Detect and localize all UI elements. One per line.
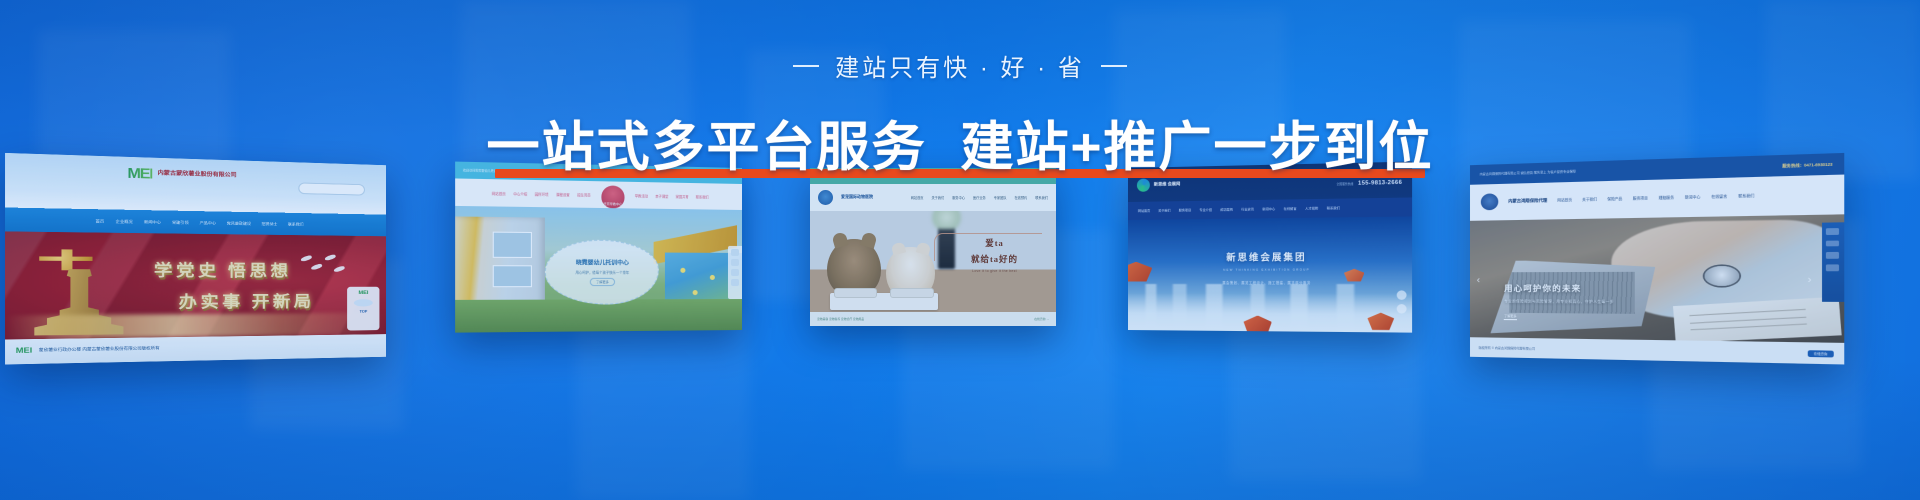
top-icon[interactable] — [731, 279, 739, 286]
message-icon[interactable] — [731, 269, 739, 276]
s3-hero: 爱ta 就给ta好的 Love it to give it the best — [810, 211, 1056, 312]
s2-navbar: 网站首页 中心介绍 园所环境 课程设置 招生简章 托育早教中心 早教活动 亲子课… — [455, 179, 742, 210]
s3-nav-item[interactable]: 关于我们 — [932, 195, 945, 200]
s5-nav-item[interactable]: 新闻中心 — [1685, 195, 1701, 200]
s4-hero-subtitle: NEW THINKING EXHIBITION GROUP — [1128, 267, 1412, 272]
s4-brand-name: 新思维 会展网 — [1154, 181, 1180, 187]
s3-slogan-en: Love it to give it the best — [940, 269, 1048, 273]
s4-nav-item[interactable]: 成功案例 — [1220, 207, 1233, 212]
cat-long-hair-icon — [827, 239, 881, 296]
phone-icon[interactable] — [1826, 228, 1839, 235]
showcase-item-insurance-site[interactable]: 内蒙古鸿翔保险代理有限公司 诚信经营 服务至上 为客户提供专业保障 服务热线：0… — [1470, 153, 1844, 365]
s2-logo-icon: 托育早教中心 — [601, 186, 624, 209]
s5-nav-item[interactable]: 服务项目 — [1633, 196, 1648, 201]
s4-nav-item[interactable]: 人才招聘 — [1305, 206, 1318, 211]
s3-slogan-frame — [934, 233, 1042, 260]
s5-nav-item[interactable]: 在线留言 — [1711, 194, 1727, 199]
s5-hero-subtitle: 专业的保险规划与风险管理，用专业和真心，守护人生每一步 — [1504, 298, 1614, 304]
s3-nav-item[interactable]: 网站首页 — [911, 195, 924, 200]
s5-side-rail[interactable] — [1822, 222, 1845, 302]
s2-nav-item[interactable]: 园所环境 — [535, 191, 549, 196]
s4-nav-item[interactable]: 网站首页 — [1138, 208, 1150, 213]
s4-nav-item[interactable]: 关于我们 — [1158, 208, 1170, 213]
s3-nav-item[interactable]: 医疗业务 — [973, 195, 986, 200]
banner-subtitle-row: 建站只有快 · 好 · 省 — [0, 48, 1920, 83]
s3-footer-left: 宠物美容 宠物寄养 宠物诊疗 宠物用品 — [817, 317, 864, 321]
banner-heading-group: 建站只有快 · 好 · 省 一站式多平台服务建站+推广一步到位 — [0, 48, 1920, 181]
s1-footer-text: 蒙欣薯业行政办公楼 内蒙古蒙欣薯业股份有限公司版权所有 — [39, 346, 160, 354]
showcase-carousel: MEI 内蒙古蒙欣薯业股份有限公司 首页 企业概况 新闻中心 党建引领 产品中心… — [0, 168, 1920, 398]
s2-nav-item[interactable]: 家园共育 — [676, 193, 689, 198]
banner-title-part1: 一站式多平台服务 — [487, 118, 927, 177]
s1-nav-item[interactable]: 党建引领 — [172, 219, 189, 225]
s2-nav-item[interactable]: 亲子课堂 — [655, 193, 668, 198]
message-icon[interactable] — [1826, 252, 1839, 259]
s1-footer-logo: MEI — [16, 347, 33, 355]
s3-navbar: 爱宠国际动物医院 网站首页 关于我们 服务中心 医疗业务 专家团队 在线预约 联… — [810, 184, 1056, 211]
s5-hero: 用心呵护你的未来 专业的保险规划与风险管理，用专业和真心，守护人生每一步 了解更… — [1470, 214, 1844, 343]
s1-nav-item[interactable]: 新闻中心 — [144, 219, 161, 225]
s4-side-rail[interactable] — [1394, 291, 1409, 324]
s2-cloud-sub: 用心呵护，给每个孩子快乐一个童年 — [575, 270, 629, 275]
s4-hero: 新思维会展集团 NEW THINKING EXHIBITION GROUP 展会… — [1128, 216, 1412, 332]
dash-right-icon — [1101, 65, 1127, 67]
s4-nav-item[interactable]: 服务项目 — [1179, 207, 1192, 212]
s4-tel-label: 全国服务热线 — [1337, 183, 1354, 186]
top-icon[interactable] — [1397, 304, 1407, 314]
s4-hero-tags: 展会策划、展览工程设计、施工搭建、展览部分服务 — [1128, 279, 1412, 284]
s3-footer: 宠物美容 宠物寄养 宠物诊疗 宠物用品 在线咨询 → — [810, 312, 1056, 326]
s3-nav-item[interactable]: 联系我们 — [1035, 195, 1048, 200]
s3-nav-item[interactable]: 专家团队 — [994, 195, 1007, 200]
s4-nav-item[interactable]: 在线留言 — [1284, 206, 1297, 211]
pet-bowls-icon — [830, 293, 938, 310]
s5-nav-item[interactable]: 理赔服务 — [1659, 196, 1674, 201]
s5-hero-text: 用心呵护你的未来 专业的保险规划与风险管理，用专业和真心，守护人生每一步 了解更… — [1504, 282, 1614, 323]
s5-brand-name: 内蒙古鸿翔保险代理 — [1508, 198, 1547, 204]
s2-nav-item[interactable]: 早教活动 — [635, 193, 648, 198]
banner-title-wrap: 一站式多平台服务建站+推广一步到位 — [487, 105, 1434, 181]
s4-nav-item[interactable]: 行业资讯 — [1241, 207, 1254, 212]
s2-nav-item[interactable]: 网站首页 — [492, 190, 506, 195]
s4-hero-title: 新思维会展集团 — [1128, 249, 1412, 264]
s3-slogan: 爱ta 就给ta好的 Love it to give it the best — [940, 237, 1048, 273]
s2-side-rail[interactable] — [728, 246, 742, 299]
s5-hero-button[interactable]: 了解更多 — [1504, 313, 1516, 319]
paper-documents-icon — [1673, 297, 1842, 343]
s1-nav-item[interactable]: 首页 — [96, 218, 105, 224]
s1-nav-item[interactable]: 产品中心 — [200, 220, 216, 226]
s3-footer-right[interactable]: 在线咨询 → — [1034, 317, 1049, 321]
s1-footer: MEI 蒙欣薯业行政办公楼 内蒙古蒙欣薯业股份有限公司版权所有 — [5, 334, 386, 365]
s3-nav-item[interactable]: 服务中心 — [952, 195, 965, 200]
s1-hero-text: 学党史 悟思想 办实事 开新局 — [112, 258, 330, 313]
s5-nav-item[interactable]: 网站首页 — [1557, 198, 1571, 203]
prev-arrow-icon[interactable]: ‹ — [1477, 274, 1480, 284]
qrcode-icon[interactable] — [1826, 240, 1839, 247]
s2-nav-item[interactable]: 联系我们 — [696, 194, 709, 199]
s5-footer-button[interactable]: 在线咨询 — [1807, 350, 1833, 357]
s2-nav-item[interactable]: 中心介绍 — [513, 191, 527, 196]
s5-nav-item[interactable]: 保险产品 — [1607, 197, 1622, 202]
s2-cloud-callout: 晓霓婴幼儿托训中心 用心呵护，给每个孩子快乐一个童年 了解更多 — [544, 240, 659, 305]
shield-logo-icon — [1481, 194, 1498, 211]
wechat-icon[interactable] — [354, 299, 373, 306]
s5-nav-item[interactable]: 关于我们 — [1582, 197, 1597, 202]
s4-nav-item[interactable]: 联系我们 — [1327, 205, 1340, 210]
top-icon[interactable] — [1826, 265, 1839, 272]
s1-rail-logo: MEI — [359, 290, 369, 296]
contact-icon[interactable] — [1397, 291, 1407, 301]
s5-footer-left: 版权所有 © 内蒙古鸿翔保险代理有限公司 — [1479, 345, 1535, 350]
s5-nav-item[interactable]: 联系我们 — [1738, 194, 1754, 199]
s4-nav-item[interactable]: 专业介绍 — [1199, 207, 1212, 212]
s1-nav-item[interactable]: 联系我们 — [288, 221, 304, 227]
s1-hero-line2: 办实事 开新局 — [162, 290, 330, 313]
s1-hero: 学党史 悟思想 办实事 开新局 MEI TOP — [5, 231, 386, 339]
next-arrow-icon[interactable]: › — [1808, 273, 1812, 284]
s2-nav-item[interactable]: 招生简章 — [577, 192, 591, 197]
phone-icon[interactable] — [731, 249, 739, 256]
hero-banner: 建站只有快 · 好 · 省 一站式多平台服务建站+推广一步到位 MEI 内蒙古蒙… — [0, 0, 1920, 500]
s4-nav-item[interactable]: 新闻中心 — [1262, 206, 1275, 211]
s1-hero-line1: 学党史 悟思想 — [112, 258, 330, 281]
banner-title-part2: 建站+推广一步到位 — [961, 118, 1434, 177]
s3-brand-name: 爱宠国际动物医院 — [841, 195, 873, 200]
s1-side-rail[interactable]: MEI TOP — [348, 287, 379, 330]
s1-nav-item[interactable]: 企业概况 — [116, 219, 133, 225]
s1-rail-top[interactable]: TOP — [360, 310, 368, 314]
showcase-item-kindergarten-site[interactable]: 欢迎访问晓霓婴幼儿老训中心官方网站 咨询热线：0471-3968888 网站首页… — [455, 162, 742, 333]
s2-nav-item[interactable]: 课程设置 — [556, 191, 570, 196]
s2-cloud-button[interactable]: 了解更多 — [590, 278, 615, 286]
paw-logo-icon — [818, 190, 833, 205]
showcase-item-party-site[interactable]: MEI 内蒙古蒙欣薯业股份有限公司 首页 企业概况 新闻中心 党建引领 产品中心… — [5, 153, 386, 365]
s5-hero-title: 用心呵护你的未来 — [1504, 282, 1614, 294]
s2-cloud-title: 晓霓婴幼儿托训中心 — [576, 258, 629, 266]
banner-subtitle: 建站只有快 · 好 · 省 — [835, 48, 1085, 83]
dash-left-icon — [793, 65, 819, 67]
building-wall-icon — [455, 216, 544, 310]
s1-search-input[interactable] — [298, 183, 366, 196]
s2-hero: 晓霓婴幼儿托训中心 用心呵护，给每个孩子快乐一个童年 了解更多 — [455, 206, 742, 333]
s3-nav-item[interactable]: 在线预约 — [1015, 195, 1028, 200]
banner-title: 一站式多平台服务建站+推广一步到位 — [487, 105, 1434, 181]
qrcode-icon[interactable] — [731, 259, 739, 266]
s1-nav-item[interactable]: 招贤纳士 — [262, 221, 278, 227]
showcase-item-pet-site[interactable]: 欢迎访问内蒙古宠物医院官方网站，您的宠物健康，我们用心守护 咨询热线：400-7… — [810, 168, 1056, 326]
showcase-item-exhibition-site[interactable]: 新思维 会展网 全国服务热线 155-9813-2666 网站首页 关于我们 服… — [1128, 162, 1412, 333]
s1-nav-item[interactable]: 党风廉政建设 — [227, 220, 251, 226]
s4-hero-text: 新思维会展集团 NEW THINKING EXHIBITION GROUP 展会… — [1128, 249, 1412, 285]
